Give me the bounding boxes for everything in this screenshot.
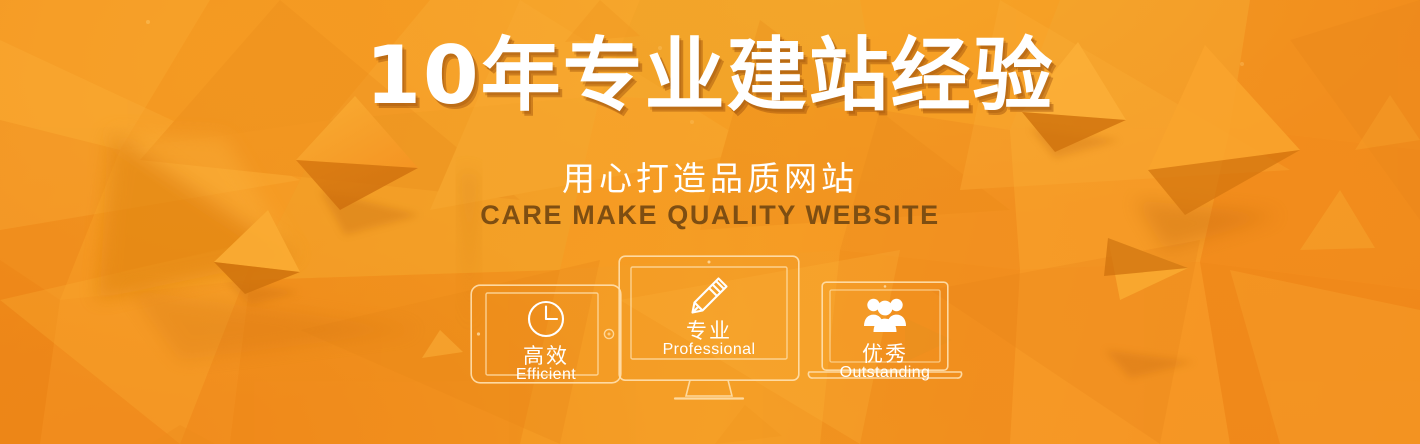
feature-card-professional[interactable]: 专业 Professional <box>618 255 800 403</box>
feature-card-outstanding[interactable]: 优秀 Outstanding <box>806 281 964 389</box>
feature-device-row: 高效 Efficient <box>0 248 1420 444</box>
feature-card-efficient[interactable]: 高效 Efficient <box>470 284 622 384</box>
banner-subtitle-chinese: 用心打造品质网站 <box>0 152 1420 200</box>
banner-content: 10年专业建站经验 用心打造品质网站 CARE MAKE QUALITY WEB… <box>0 0 1420 444</box>
people-group-icon <box>806 295 964 335</box>
banner-subtitle-english: CARE MAKE QUALITY WEBSITE <box>0 200 1420 231</box>
banner-headline: 10年专业建站经验 <box>0 34 1420 118</box>
pencil-icon <box>618 273 800 319</box>
promo-banner: 10年专业建站经验 用心打造品质网站 CARE MAKE QUALITY WEB… <box>0 0 1420 444</box>
clock-icon <box>470 298 622 340</box>
